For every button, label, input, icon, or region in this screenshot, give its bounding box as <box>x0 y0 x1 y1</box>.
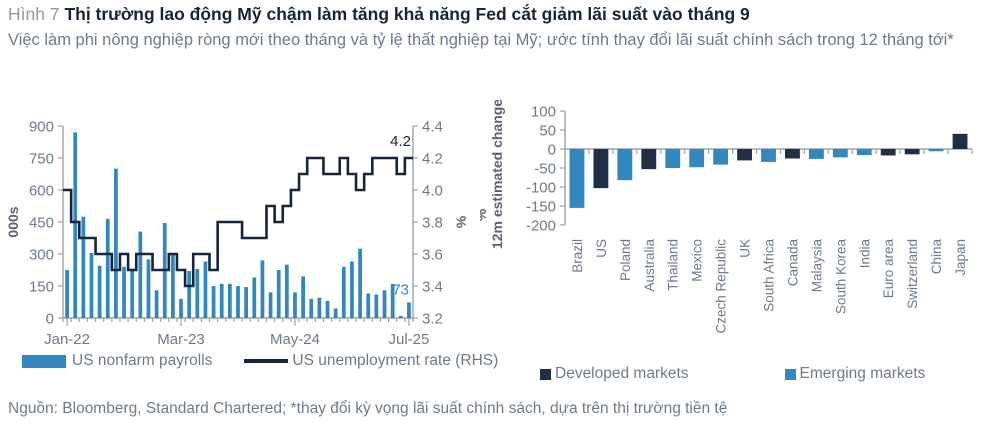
policy-change-bar <box>833 149 848 157</box>
payroll-bar <box>269 292 273 318</box>
square-swatch-icon <box>785 369 796 380</box>
y-axis-title: 000s <box>5 206 21 237</box>
x-axis-category-label: UK <box>738 239 753 258</box>
x-axis-category-label: Australia <box>642 239 657 292</box>
y-axis-tick-label: 0 <box>548 142 556 159</box>
payroll-bar <box>138 232 142 318</box>
policy-change-bar <box>641 149 656 169</box>
annotation-unemployment-value: 4.2 <box>390 133 411 150</box>
x-axis-tick-label: Jan-22 <box>44 331 90 348</box>
legend-label-nonfarm-payrolls: US nonfarm payrolls <box>72 352 212 370</box>
y2-axis-title: % <box>480 208 489 221</box>
x-axis-category-label: Czech Republic <box>714 239 729 334</box>
payroll-bar <box>318 298 322 318</box>
subtitle: Việc làm phi nông nghiệp ròng mới theo t… <box>8 28 968 53</box>
y-axis-tick-label: -100 <box>526 180 556 197</box>
policy-change-bar <box>905 149 920 154</box>
legend-label-emerging-markets: Emerging markets <box>800 365 926 383</box>
x-axis-category-label: South Korea <box>833 239 848 315</box>
x-axis-category-label: China <box>929 239 944 275</box>
page-title: Hình 7 Thị trường lao động Mỹ chậm làm t… <box>8 2 980 26</box>
y-axis-tick-label: 600 <box>29 183 54 200</box>
payroll-bar <box>122 267 126 318</box>
x-axis-category-label: Switzerland <box>905 239 920 309</box>
y2-axis-tick-label: 4.4 <box>422 119 443 136</box>
y2-axis-tick-label: 4.2 <box>422 151 443 168</box>
legend-item-nonfarm-payrolls[interactable]: US nonfarm payrolls <box>22 352 212 370</box>
y-axis-tick-label: 900 <box>29 119 54 136</box>
x-axis-category-label: Japan <box>953 239 968 276</box>
payroll-bar <box>236 286 240 318</box>
payroll-bar <box>383 290 387 318</box>
payroll-bar <box>293 292 297 318</box>
legend-left: US nonfarm payrolls US unemployment rate… <box>22 352 498 370</box>
chart-header: Hình 7 Thị trường lao động Mỹ chậm làm t… <box>0 0 986 53</box>
payroll-bar <box>252 277 256 318</box>
policy-change-bar <box>570 149 585 208</box>
bar-swatch-icon <box>22 355 66 368</box>
x-axis-category-label: US <box>594 239 609 258</box>
payroll-bar <box>179 299 183 318</box>
policy-change-bar <box>785 149 800 159</box>
payroll-bar <box>285 265 289 318</box>
chart-policy-rate-12m-change: -200-150-100-5005010012m estimated chang… <box>480 100 986 390</box>
policy-change-bar <box>809 149 824 159</box>
payroll-bar <box>350 261 354 318</box>
policy-change-bar <box>857 149 872 155</box>
payroll-bar <box>187 271 191 318</box>
payroll-bar <box>407 302 411 318</box>
legend-label-developed-markets: Developed markets <box>555 365 689 383</box>
payroll-bar <box>195 269 199 318</box>
policy-change-bar <box>665 149 680 168</box>
payroll-bar <box>399 316 403 318</box>
payroll-bar <box>147 259 151 318</box>
x-axis-category-label: India <box>857 239 872 269</box>
x-axis-category-label: Brazil <box>570 239 585 273</box>
x-axis-category-label: Canada <box>785 239 800 287</box>
x-axis-category-label: Malaysia <box>809 239 824 293</box>
legend-item-emerging-markets[interactable]: Emerging markets <box>785 365 926 383</box>
payroll-bar <box>212 286 216 318</box>
policy-change-bar <box>689 149 704 167</box>
y-axis-tick-label: 150 <box>29 279 54 296</box>
policy-change-bar <box>713 149 728 165</box>
y-axis-tick-label: 450 <box>29 215 54 232</box>
payroll-bar <box>366 293 370 318</box>
policy-change-bar <box>593 149 608 188</box>
policy-change-bar <box>953 134 968 149</box>
payroll-bar <box>358 249 362 318</box>
payroll-bar <box>114 169 118 318</box>
payroll-bar <box>334 308 338 318</box>
payroll-bar <box>375 295 379 318</box>
payroll-bar <box>73 132 77 318</box>
policy-rate-svg: -200-150-100-5005010012m estimated chang… <box>480 100 986 390</box>
x-axis-tick-label: Mar-23 <box>157 331 205 348</box>
payroll-bar <box>81 217 85 318</box>
payroll-bar <box>244 287 248 318</box>
payroll-bar <box>326 301 330 318</box>
payroll-bar <box>65 270 69 318</box>
legend-item-developed-markets[interactable]: Developed markets <box>540 365 689 383</box>
x-axis-tick-label: Jul-25 <box>389 331 430 348</box>
y2-axis-tick-label: 3.2 <box>422 311 443 328</box>
payroll-bar <box>309 299 313 318</box>
x-axis-category-label: Euro area <box>881 239 896 299</box>
title-text: Thị trường lao động Mỹ chậm làm tăng khả… <box>64 4 749 24</box>
payroll-bar <box>261 260 265 318</box>
x-axis-tick-label: May-24 <box>270 331 320 348</box>
payroll-bar <box>90 253 94 318</box>
legend-label-unemployment-rate: US unemployment rate (RHS) <box>292 352 498 370</box>
y2-axis-tick-label: 3.8 <box>422 215 443 232</box>
x-axis-category-label: South Africa <box>762 239 777 312</box>
annotation-payrolls-value: 73 <box>392 281 409 298</box>
y2-axis-tick-label: 3.4 <box>422 279 443 296</box>
payroll-bar <box>171 253 175 318</box>
us-labour-market-svg: 0150300450600750900000s3.23.43.63.84.04.… <box>0 100 480 390</box>
legend-item-unemployment-rate[interactable]: US unemployment rate (RHS) <box>244 352 498 370</box>
payroll-bar <box>106 219 110 318</box>
y-axis-tick-label: 750 <box>29 151 54 168</box>
payroll-bar <box>98 266 102 318</box>
payroll-bar <box>204 261 208 318</box>
line-swatch-icon <box>244 359 288 363</box>
y-axis-tick-label: 50 <box>539 123 556 140</box>
y2-axis-tick-label: 3.6 <box>422 247 443 264</box>
y-axis-tick-label: -200 <box>526 218 556 235</box>
y-axis-tick-label: 300 <box>29 247 54 264</box>
legend-right: Developed markets Emerging markets <box>540 365 925 383</box>
x-axis-category-label: Poland <box>618 239 633 281</box>
y-axis-title: 12m estimated change <box>489 100 505 249</box>
x-axis-category-label: Mexico <box>690 239 705 282</box>
y2-axis-tick-label: 4.0 <box>422 183 443 200</box>
payroll-bar <box>228 284 232 318</box>
charts-container: 0150300450600750900000s3.23.43.63.84.04.… <box>0 100 986 390</box>
policy-change-bar <box>929 149 944 151</box>
y-axis-tick-label: -50 <box>534 161 556 178</box>
y2-axis-title: % <box>453 215 469 228</box>
source-note: Nguồn: Bloomberg, Standard Chartered; *t… <box>8 400 727 418</box>
policy-change-bar <box>761 149 776 162</box>
x-axis-category-label: Thailand <box>666 239 681 291</box>
policy-change-bar <box>617 149 632 180</box>
y-axis-tick-label: 0 <box>46 311 54 328</box>
chart-us-labour-market: 0150300450600750900000s3.23.43.63.84.04.… <box>0 100 480 390</box>
policy-change-bar <box>881 149 896 155</box>
policy-change-bar <box>737 149 752 160</box>
payroll-bar <box>342 267 346 318</box>
payroll-bar <box>277 270 281 318</box>
y-axis-tick-label: 100 <box>531 104 556 121</box>
payroll-bar <box>220 284 224 318</box>
y-axis-tick-label: -150 <box>526 199 556 216</box>
payroll-bar <box>130 270 134 318</box>
payroll-bar <box>155 290 159 318</box>
square-swatch-icon <box>540 369 551 380</box>
figure-label: Hình 7 <box>8 4 60 24</box>
payroll-bar <box>301 276 305 318</box>
